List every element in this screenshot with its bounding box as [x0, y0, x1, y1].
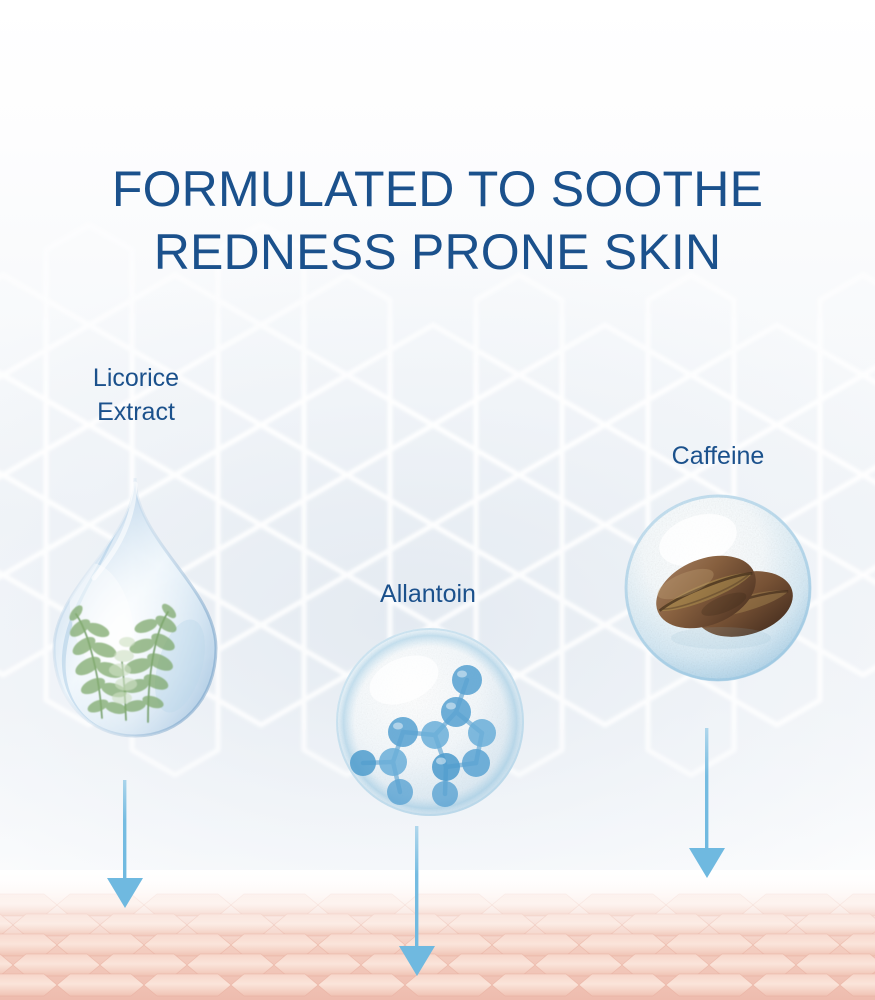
page-title: FORMULATED TO SOOTHE REDNESS PRONE SKIN	[0, 158, 875, 284]
ingredient-label-caffeine: Caffeine	[628, 440, 808, 474]
page-title-line-1: FORMULATED TO SOOTHE	[0, 158, 875, 221]
arrow-licorice-to-skin	[104, 780, 146, 910]
allantoin-sphere-graphic	[330, 622, 530, 822]
licorice-droplet-graphic	[20, 470, 250, 750]
ingredient-label-licorice: Licorice Extract	[46, 362, 226, 429]
ingredient-label-allantoin: Allantoin	[338, 578, 518, 612]
promo-graphic: FORMULATED TO SOOTHE REDNESS PRONE SKIN	[0, 0, 875, 1000]
arrow-caffeine-to-skin	[686, 728, 728, 880]
arrow-allantoin-to-skin	[396, 826, 438, 978]
caffeine-sphere-graphic	[618, 488, 818, 688]
page-title-line-2: REDNESS PRONE SKIN	[0, 221, 875, 284]
